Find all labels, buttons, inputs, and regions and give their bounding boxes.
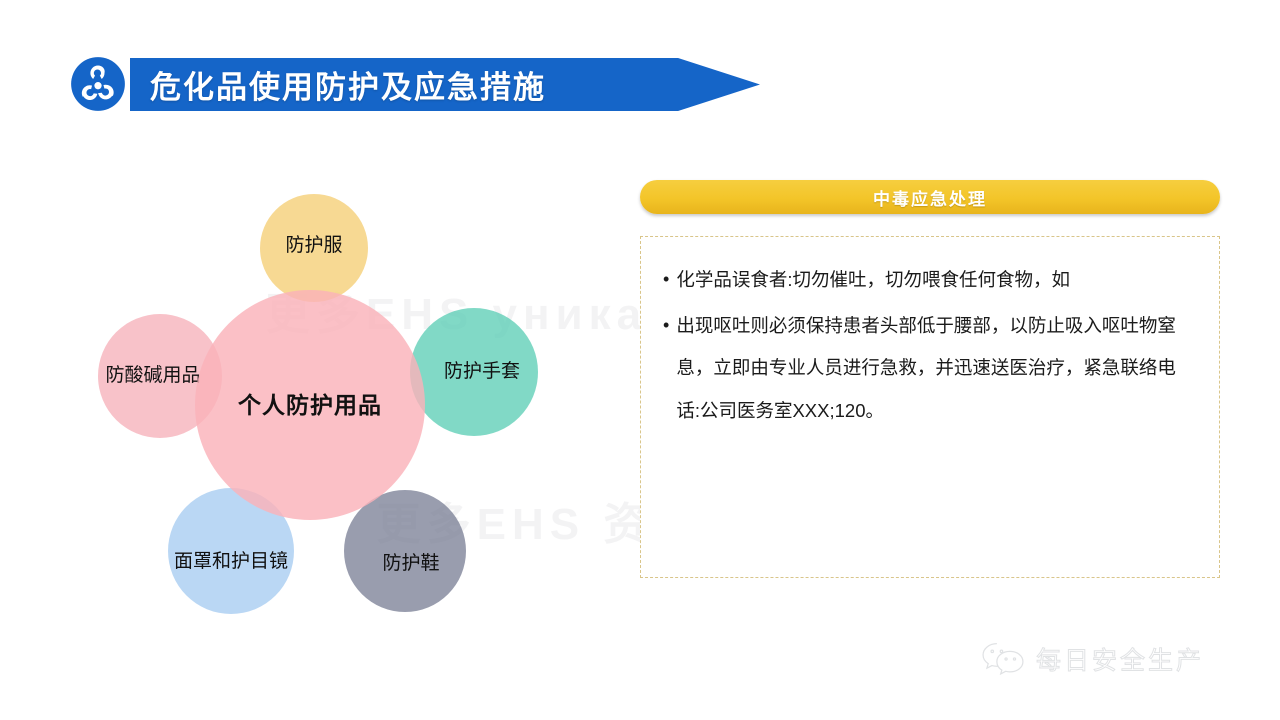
biohazard-icon (70, 56, 126, 112)
venn-node-glove[interactable]: 防护手套 (410, 308, 538, 436)
venn-node-shoe[interactable]: 防护鞋 (344, 490, 466, 612)
title-banner: 危化品使用防护及应急措施 (70, 58, 760, 111)
wechat-icon (980, 640, 1026, 678)
ppe-venn-diagram: 防护服 防酸碱用品 防护手套 面罩和护目镜 防护鞋 个人防护用品 (80, 178, 580, 618)
list-item: • 出现呕吐则必须保持患者头部低于腰部，以防止吸入呕吐物窒息，立即由专业人员进行… (663, 305, 1195, 432)
list-item: • 化学品误食者:切勿催吐，切勿喂食任何食物，如 (663, 259, 1195, 301)
emergency-panel: 中毒应急处理 • 化学品误食者:切勿催吐，切勿喂食任何食物，如 • 出现呕吐则必… (640, 180, 1220, 578)
footer-brand-text: 每日安全生产 (1036, 641, 1204, 677)
bullet-list: • 化学品误食者:切勿催吐，切勿喂食任何食物，如 • 出现呕吐则必须保持患者头部… (663, 259, 1195, 432)
venn-center-label: 个人防护用品 (195, 290, 425, 520)
panel-header: 中毒应急处理 (640, 180, 1220, 214)
bullet-marker: • (663, 259, 669, 300)
panel-body: • 化学品误食者:切勿催吐，切勿喂食任何食物，如 • 出现呕吐则必须保持患者头部… (640, 236, 1220, 578)
venn-node-suit[interactable]: 防护服 (260, 194, 368, 302)
bullet-text: 出现呕吐则必须保持患者头部低于腰部，以防止吸入呕吐物窒息，立即由专业人员进行急救… (676, 305, 1195, 432)
bullet-text: 化学品误食者:切勿催吐，切勿喂食任何食物，如 (676, 259, 1195, 301)
page-title: 危化品使用防护及应急措施 (150, 58, 546, 111)
slide-root: 更多EHS уникаль资料，请咨询 更多EHS 资料，请咨询 危化品使用防护… (0, 0, 1280, 720)
bullet-marker: • (663, 305, 669, 346)
footer-brand: 每日安全生产 (980, 640, 1204, 678)
